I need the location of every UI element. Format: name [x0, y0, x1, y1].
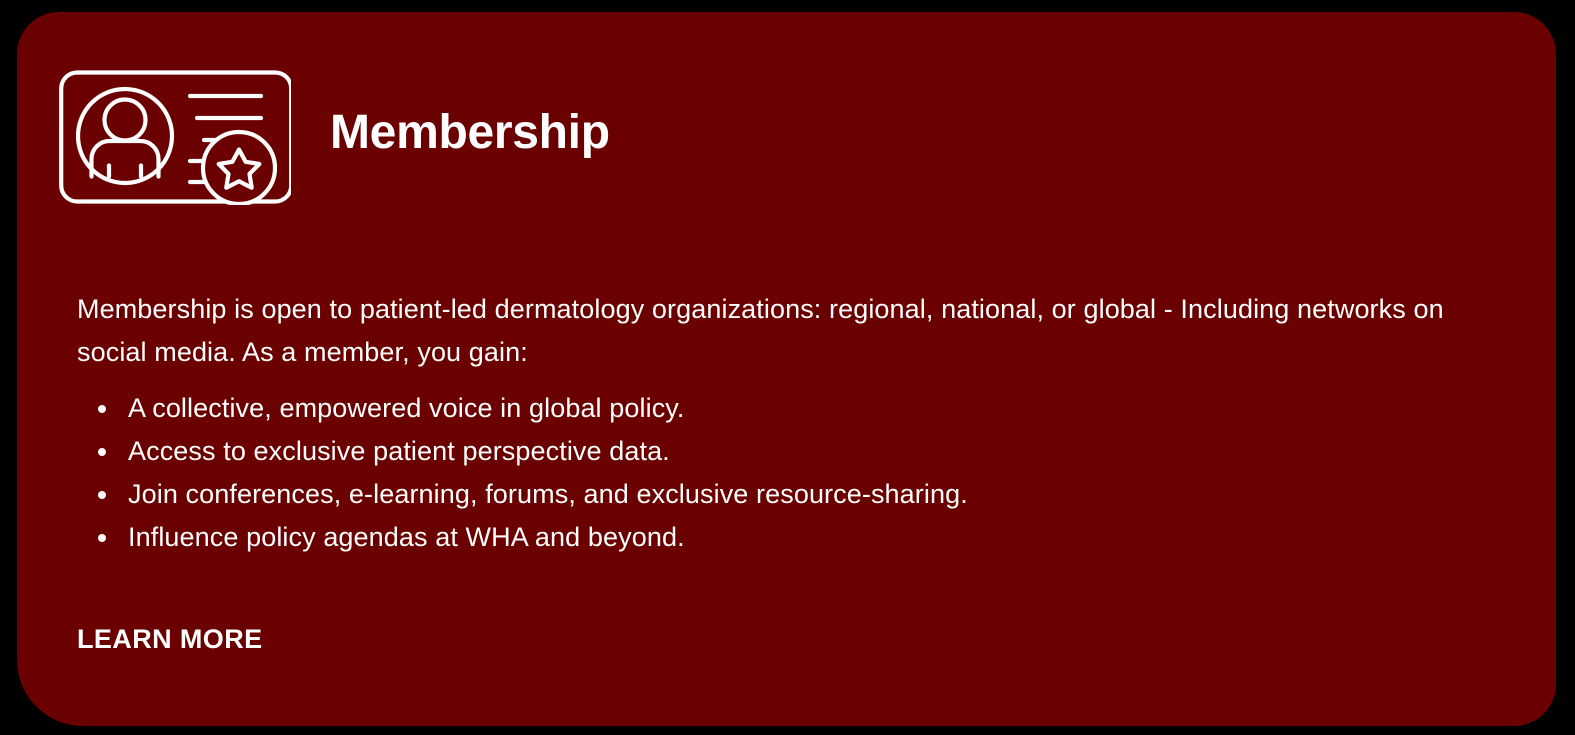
bullet-icon [98, 534, 106, 542]
page-root: Membership Membership is open to patient… [0, 0, 1575, 735]
membership-id-card-star-icon [59, 60, 291, 205]
list-item-label: Access to exclusive patient perspective … [128, 436, 670, 466]
page-title: Membership [330, 109, 610, 157]
list-item: A collective, empowered voice in global … [77, 387, 1497, 430]
icon-avatar-shoulders [92, 141, 159, 177]
icon-star-badge-circle [203, 132, 275, 204]
membership-card: Membership Membership is open to patient… [17, 12, 1556, 726]
list-item: Access to exclusive patient perspective … [77, 430, 1497, 473]
list-item-label: Influence policy agendas at WHA and beyo… [128, 522, 685, 552]
benefits-list: A collective, empowered voice in global … [77, 387, 1497, 559]
learn-more-link[interactable]: LEARN MORE [77, 624, 263, 655]
list-item: Join conferences, e-learning, forums, an… [77, 473, 1497, 516]
bullet-icon [98, 405, 106, 413]
list-item: Influence policy agendas at WHA and beyo… [77, 516, 1497, 559]
list-item-label: A collective, empowered voice in global … [128, 393, 685, 423]
icon-avatar-head [105, 100, 146, 141]
list-item-label: Join conferences, e-learning, forums, an… [128, 479, 968, 509]
bullet-icon [98, 448, 106, 456]
intro-paragraph: Membership is open to patient-led dermat… [77, 288, 1517, 374]
bullet-icon [98, 491, 106, 499]
card-header: Membership [59, 60, 610, 205]
